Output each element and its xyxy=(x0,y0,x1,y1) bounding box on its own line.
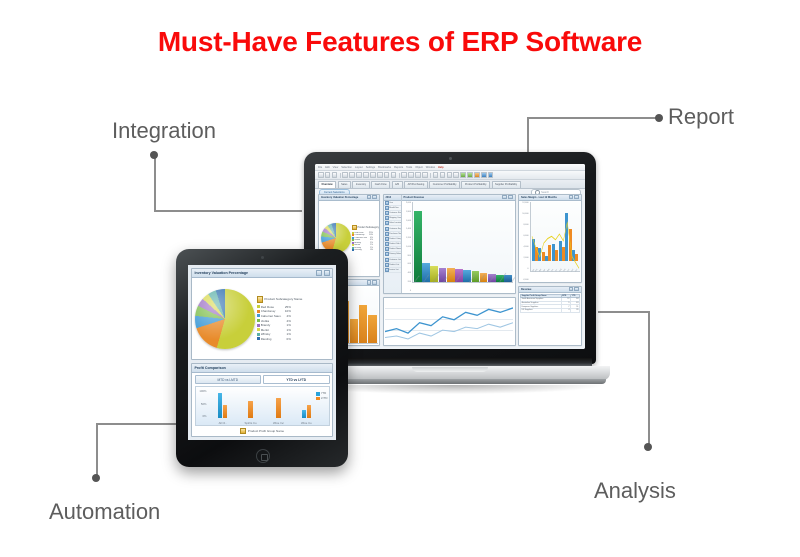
tablet-device: Inventory Valuation Percentage xyxy=(176,249,348,467)
analysis-connector-vertical xyxy=(648,311,650,448)
legend-row: Cabernet Sauv.4% xyxy=(257,314,303,318)
refresh-icon[interactable] xyxy=(401,172,407,178)
paste-icon[interactable] xyxy=(363,172,369,178)
menu-item-selection[interactable]: Selection xyxy=(341,166,352,169)
export-icon[interactable] xyxy=(467,172,473,178)
panel-trend-line xyxy=(383,297,516,346)
bar-lytd xyxy=(276,398,280,418)
legend-label: Riesling xyxy=(261,337,282,341)
report-connector-dot xyxy=(655,114,663,122)
list-item-label: Product Category Name xyxy=(389,238,400,240)
automation-connector-vertical xyxy=(96,423,98,478)
sales-margin-chart: 12,000 10,000 8,000 6,000 4,000 2,000 0 … xyxy=(521,202,580,281)
tab-cash-flow[interactable]: Cash Flow xyxy=(371,181,390,188)
toolbar-divider-3 xyxy=(430,173,431,178)
menu-bar[interactable]: File Edit View Selection Layout Settings… xyxy=(315,164,585,171)
y-tick: 600 xyxy=(408,263,411,265)
legend-swatch xyxy=(257,337,260,340)
save-icon[interactable] xyxy=(332,172,338,178)
y-tick: 1,600 xyxy=(406,220,411,222)
pie-legend-tablet: Product Subcategory Name Red Rose25% Cha… xyxy=(257,296,303,341)
x-axis-labels: All Cl.. Spirits Co Wine Inc Wine Co xyxy=(210,421,320,425)
list-item-label: Customer Segment xyxy=(389,228,400,230)
panel-title-text: Sales Margin - Last 12 Months xyxy=(521,196,557,199)
panel-sales-margin: Sales Margin - Last 12 Months 12,000 10,… xyxy=(518,194,582,284)
analysis-connector-dot xyxy=(644,443,652,451)
y-tick: 100% xyxy=(199,389,206,393)
redo-icon[interactable] xyxy=(377,172,383,178)
legend-label: Brandy xyxy=(261,323,282,327)
toolbar-divider xyxy=(340,173,341,178)
integration-connector-horizontal xyxy=(154,210,302,212)
menu-item-reports[interactable]: Reports xyxy=(394,166,403,169)
tablet-body: Inventory Valuation Percentage xyxy=(176,249,348,467)
product-revenue-chart: 2,000 1,800 1,600 1,400 1,200 1,000 800 xyxy=(403,202,513,292)
zoom-icon[interactable] xyxy=(408,172,414,178)
highlight-icon[interactable] xyxy=(474,172,480,178)
front-camera-icon xyxy=(261,256,264,259)
x-tick: All Cl.. xyxy=(210,421,236,425)
margin-trend-line xyxy=(531,202,580,271)
list-item-label: Primary Sales Rep Nr xyxy=(389,253,400,255)
legend-row: Whisky1% xyxy=(257,332,303,336)
bar-series xyxy=(210,390,320,418)
y-tick: -2,000 xyxy=(523,279,529,281)
y-tick: 4,000 xyxy=(523,246,528,248)
sort-icon[interactable] xyxy=(391,172,397,178)
list-item-label: Year xyxy=(389,202,393,204)
item-icon xyxy=(385,263,389,267)
bar-series xyxy=(414,204,512,282)
item-icon xyxy=(385,221,389,225)
bar-lytd xyxy=(307,405,311,418)
plot-area: YTD LYTD All Cl.. Spirits Co Wine Inc Wi… xyxy=(208,387,329,425)
tool-bar[interactable] xyxy=(315,171,585,180)
cell: 39 xyxy=(571,308,580,312)
list-item-label: Customer List xyxy=(389,259,400,261)
x-tick: Dec xyxy=(575,268,579,272)
legend-key-icon xyxy=(257,296,264,303)
item-icon xyxy=(385,232,389,236)
y-tick: 1,200 xyxy=(406,237,411,239)
legend-title: Product Subcategory Name xyxy=(352,225,381,230)
poster-canvas: Must-Have Features of ERP Software Integ… xyxy=(0,0,800,557)
plot-area: Chardonay Wine Cooler Chablis Rose Red R… xyxy=(412,202,513,283)
plot-area: Jan Feb Mar Apr May Jun Jul Aug xyxy=(530,202,580,272)
y-tick: 0% xyxy=(202,414,206,418)
bar-group xyxy=(210,390,236,418)
bar-group xyxy=(237,390,263,418)
home-button[interactable] xyxy=(256,449,270,463)
list-item-label: Product List xyxy=(389,264,399,266)
trend-line-chart xyxy=(385,299,513,343)
item-icon xyxy=(385,227,389,231)
chart-legend: YTD LYTD xyxy=(316,392,327,400)
menu-item-settings[interactable]: Settings xyxy=(366,166,375,169)
legend-swatch xyxy=(257,319,260,322)
x-axis-labels: Chardonay Wine Cooler Chablis Rose Red R… xyxy=(414,282,512,284)
bar xyxy=(368,315,377,343)
y-tick: 0 xyxy=(410,290,411,292)
legend-swatch xyxy=(316,397,320,401)
panel-title: Profit Comparison xyxy=(192,364,332,373)
menu-item-edit[interactable]: Edit xyxy=(325,166,329,169)
menu-item-window[interactable]: Window xyxy=(426,166,435,169)
info-icon[interactable] xyxy=(488,172,494,178)
y-tick: 12,000 xyxy=(522,202,528,204)
integration-connector-dot xyxy=(150,151,158,159)
panel-title-text: Revenue xyxy=(521,288,531,291)
y-tick: 200 xyxy=(408,281,411,283)
list-item-label: Product Name xyxy=(389,248,400,250)
legend-value: 25% xyxy=(283,305,291,309)
settings-icon[interactable] xyxy=(481,172,487,178)
panel-controls[interactable] xyxy=(569,287,579,292)
tab-product-profitability[interactable]: Product Profitability xyxy=(461,181,490,188)
legend-label: Whisky xyxy=(261,332,282,336)
legend-row: Vodka4% xyxy=(257,319,303,323)
menu-item-view[interactable]: View xyxy=(333,166,339,169)
panel-product-revenue: 2013 Year Month/Year Customer Name Shipp… xyxy=(383,194,516,295)
legend-row: Riesling0% xyxy=(352,249,381,251)
page-title: Must-Have Features of ERP Software xyxy=(0,26,800,58)
legend-value: 1% xyxy=(283,332,291,336)
panel-body: 12,000 10,000 8,000 6,000 4,000 2,000 0 … xyxy=(519,201,581,283)
columns-icon[interactable] xyxy=(453,172,459,178)
legend-swatch xyxy=(257,333,260,336)
panel-profit-comparison: Profit Comparison MTD vs LMTD YTD vs LYT… xyxy=(191,363,333,437)
bar-ytd xyxy=(218,393,222,418)
cell: US Suppliers xyxy=(521,308,562,312)
legend-value: 1% xyxy=(283,328,291,332)
minimize-icon[interactable] xyxy=(569,287,574,292)
minimize-icon[interactable] xyxy=(569,195,574,200)
menu-item-bookmarks[interactable]: Bookmarks xyxy=(378,166,391,169)
tab-sales[interactable]: Sales xyxy=(338,181,351,188)
print-icon[interactable] xyxy=(342,172,348,178)
list-item-label: Sales Location Name xyxy=(389,222,400,224)
legend-swatch xyxy=(257,314,260,317)
legend-row: Red Rose25% xyxy=(257,305,303,309)
y-tick: 400 xyxy=(408,272,411,274)
maximize-icon[interactable] xyxy=(574,195,579,200)
legend-label: Chardonay xyxy=(261,309,282,313)
dimension-list[interactable]: 2013 Year Month/Year Customer Name Shipp… xyxy=(384,195,402,294)
list-icon[interactable] xyxy=(447,172,453,178)
menu-item-file[interactable]: File xyxy=(318,166,322,169)
menu-item-tools[interactable]: Tools xyxy=(406,166,412,169)
y-tick: 800 xyxy=(408,255,411,257)
product-revenue-wrap: Product Revenue 2,000 1,800 xyxy=(402,195,515,294)
maximize-icon[interactable] xyxy=(372,280,377,285)
legend-swatch xyxy=(257,310,260,313)
cut-icon[interactable] xyxy=(349,172,355,178)
new-icon[interactable] xyxy=(318,172,324,178)
integration-connector-vertical xyxy=(154,157,156,212)
tab-supplier-profitability[interactable]: Supplier Profitability xyxy=(492,181,521,188)
panel-controls[interactable] xyxy=(316,270,329,276)
right-column: Sales Margin - Last 12 Months 12,000 10,… xyxy=(518,194,582,347)
profit-comparison-tabs[interactable]: MTD vs LMTD YTD vs LYTD xyxy=(192,373,332,384)
legend-title-text: Product Subcategory Name xyxy=(358,227,381,229)
menu-item-layout[interactable]: Layout xyxy=(355,166,363,169)
y-axis: 12,000 10,000 8,000 6,000 4,000 2,000 0 … xyxy=(521,202,530,281)
legend-swatch xyxy=(257,324,260,327)
laptop-screen: File Edit View Selection Layout Settings… xyxy=(315,164,585,349)
panel-title-text: Product Revenue xyxy=(404,196,425,199)
legend-label: LYTD xyxy=(321,397,328,400)
legend-value: 4% xyxy=(283,319,291,323)
trend-line-svg xyxy=(385,299,513,343)
panel-body: Product Subcategory Name Red Rose25% Cha… xyxy=(192,278,332,359)
legend-row: Chardonay10% xyxy=(257,309,303,313)
callout-label-report: Report xyxy=(668,104,734,130)
legend-value: 4% xyxy=(283,314,291,318)
report-connector-horizontal xyxy=(527,117,659,119)
erp-dashboard-tablet: Inventory Valuation Percentage xyxy=(188,265,336,440)
list-item-label: Invoice List xyxy=(389,269,398,271)
list-item-label: Shipping Condition Name xyxy=(389,217,400,219)
legend-label: Cabernet Sauv. xyxy=(261,314,282,318)
panel-controls[interactable] xyxy=(367,280,377,285)
legend-value: 0% xyxy=(283,337,291,341)
maximize-icon[interactable] xyxy=(372,195,377,200)
bar-lytd xyxy=(248,401,252,418)
legend-value: 10% xyxy=(283,309,291,313)
x-tick: Wine Inc xyxy=(265,421,291,425)
x-tick: Spirits Co xyxy=(237,421,263,425)
dimension-icon xyxy=(240,428,247,435)
panel-body xyxy=(384,298,515,345)
maximize-icon[interactable] xyxy=(324,270,330,276)
cell: 4 xyxy=(561,308,570,312)
bar-ytd xyxy=(302,410,306,418)
tab-customer-profitability[interactable]: Customer Profitability xyxy=(429,181,460,188)
y-tick: 10,000 xyxy=(522,213,528,215)
tab-inventory[interactable]: Inventory xyxy=(352,181,369,188)
item-icon xyxy=(385,242,389,246)
tab-overview[interactable]: Overview xyxy=(318,181,336,188)
item-icon xyxy=(385,268,389,272)
undo-icon[interactable] xyxy=(370,172,376,178)
grid-icon[interactable] xyxy=(440,172,446,178)
y-tick: 0 xyxy=(527,268,528,270)
revenue-table[interactable]: Supplier Profit Group Name MTD YTD South… xyxy=(520,294,580,313)
legend-swatch xyxy=(352,249,354,251)
copy-icon[interactable] xyxy=(356,172,362,178)
bar-lytd xyxy=(223,405,227,418)
legend-row: Riesling0% xyxy=(257,337,303,341)
legend-label: Merlot xyxy=(261,328,282,332)
legend-label: Riesling xyxy=(354,249,367,251)
chart-footer: Product Profit Group Name xyxy=(192,426,332,436)
callout-label-automation: Automation xyxy=(49,499,160,525)
callout-label-analysis: Analysis xyxy=(594,478,676,504)
y-tick: 2,000 xyxy=(406,202,411,204)
maximize-icon[interactable] xyxy=(508,195,513,200)
tab-ap-purchasing[interactable]: AP/Purchasing xyxy=(404,181,428,188)
y-axis: 100% 50% 0% xyxy=(196,387,208,425)
bar-group xyxy=(265,390,291,418)
y-tick: 1,800 xyxy=(406,211,411,213)
legend-row: Merlot1% xyxy=(257,328,303,332)
list-item-label: Purchaser Name xyxy=(389,233,400,235)
lock-icon[interactable] xyxy=(415,172,421,178)
table-row[interactable]: US Suppliers439 xyxy=(521,308,580,312)
tab-mtd-vs-lmtd[interactable]: MTD vs LMTD xyxy=(195,375,262,384)
item-icon xyxy=(385,247,389,251)
legend-label: YTD xyxy=(321,392,326,395)
panel-revenue-table: Revenue Supplier Profit Group Name MTD Y… xyxy=(518,286,582,346)
unlock-icon[interactable] xyxy=(422,172,428,178)
y-tick: 8,000 xyxy=(523,224,528,226)
y-tick: 50% xyxy=(201,402,207,406)
panel-title-text: Profit Comparison xyxy=(195,366,226,370)
panel-body: 2,000 1,800 1,600 1,400 1,200 1,000 800 xyxy=(402,201,515,294)
laptop-notch xyxy=(412,367,488,372)
x-tick: Wine Co xyxy=(293,421,319,425)
y-tick: 6,000 xyxy=(523,235,528,237)
minimize-icon[interactable] xyxy=(367,195,372,200)
bar xyxy=(359,305,368,342)
panel-title-text: Inventory Valuation Percentage xyxy=(195,271,249,275)
tab-ytd-vs-lytd[interactable]: YTD vs LYTD xyxy=(263,375,330,384)
legend-swatch xyxy=(316,392,320,396)
erp-dashboard-laptop: File Edit View Selection Layout Settings… xyxy=(315,164,585,349)
item-icon xyxy=(385,201,389,205)
panel-controls[interactable] xyxy=(569,195,579,200)
callout-label-integration: Integration xyxy=(112,118,216,144)
legend-swatch xyxy=(257,328,260,331)
list-item-label: Customer Name xyxy=(389,212,400,214)
bar xyxy=(350,319,359,342)
center-column: 2013 Year Month/Year Customer Name Shipp… xyxy=(383,194,516,347)
legend-key-icon xyxy=(352,225,357,230)
panel-inventory-valuation-tablet: Inventory Valuation Percentage xyxy=(191,268,333,360)
chart-icon[interactable] xyxy=(460,172,466,178)
legend-value: 1% xyxy=(283,323,291,327)
panel-controls[interactable] xyxy=(367,195,377,200)
profit-comparison-chart: 100% 50% 0% xyxy=(195,386,330,426)
filter-icon[interactable] xyxy=(384,172,390,178)
legend-title-text: Product Subcategory Name xyxy=(264,297,302,301)
menu-item-help[interactable]: Help xyxy=(438,166,444,169)
legend-value: 0% xyxy=(368,249,373,251)
toolbar-divider-2 xyxy=(399,173,400,178)
legend-title: Product Subcategory Name xyxy=(257,296,303,303)
automation-connector-dot xyxy=(92,474,100,482)
legend-row: LYTD xyxy=(316,397,327,401)
dashboard-tabs[interactable]: Overview Sales Inventory Cash Flow A/R A… xyxy=(315,180,585,189)
x-axis-labels: Jan Feb Mar Apr May Jun Jul Aug xyxy=(532,271,579,273)
legend-label: Vodka xyxy=(261,319,282,323)
item-icon xyxy=(385,211,389,215)
tablet-screen: Inventory Valuation Percentage xyxy=(188,265,336,440)
list-item-label: Product Sub Group xyxy=(389,243,400,245)
item-icon xyxy=(385,237,389,241)
maximize-icon[interactable] xyxy=(574,287,579,292)
tab-ar[interactable]: A/R xyxy=(392,181,403,188)
inventory-pie-chart-tablet xyxy=(195,289,255,349)
pie-legend: Product Subcategory Name Red Rose25% Cha… xyxy=(352,225,381,251)
legend-row: YTD xyxy=(316,392,327,396)
list-title-text: 2013 xyxy=(386,196,392,199)
minimize-icon[interactable] xyxy=(367,280,372,285)
panel-controls[interactable] xyxy=(502,195,512,200)
item-icon xyxy=(385,206,389,210)
panel-body: Supplier Profit Group Name MTD YTD South… xyxy=(519,293,581,345)
y-axis: 2,000 1,800 1,600 1,400 1,200 1,000 800 xyxy=(403,202,412,292)
y-tick: 1,000 xyxy=(406,246,411,248)
menu-item-object[interactable]: Object xyxy=(415,166,423,169)
item-icon xyxy=(385,252,389,256)
minimize-icon[interactable] xyxy=(502,195,507,200)
list-item[interactable]: Invoice List xyxy=(384,268,401,273)
open-icon[interactable] xyxy=(325,172,331,178)
webcam-icon xyxy=(449,157,452,160)
dashboard-panels: Inventory Valuation Percentage xyxy=(315,194,585,350)
legend-label: Red Rose xyxy=(261,305,282,309)
item-icon xyxy=(385,216,389,220)
legend-swatch xyxy=(257,305,260,308)
panel-title: Inventory Valuation Percentage xyxy=(192,269,332,278)
legend-row: Brandy1% xyxy=(257,323,303,327)
minimize-icon[interactable] xyxy=(316,270,322,276)
chart-footer-label: Product Profit Group Name xyxy=(248,429,284,433)
panel-title-text: Inventory Valuation Percentage xyxy=(321,196,358,199)
list-item-label: Month/Year xyxy=(389,207,399,209)
y-tick: 1,400 xyxy=(406,228,411,230)
table-icon[interactable] xyxy=(433,172,439,178)
y-tick: 2,000 xyxy=(523,257,528,259)
bar xyxy=(414,211,422,282)
item-icon xyxy=(385,258,389,262)
